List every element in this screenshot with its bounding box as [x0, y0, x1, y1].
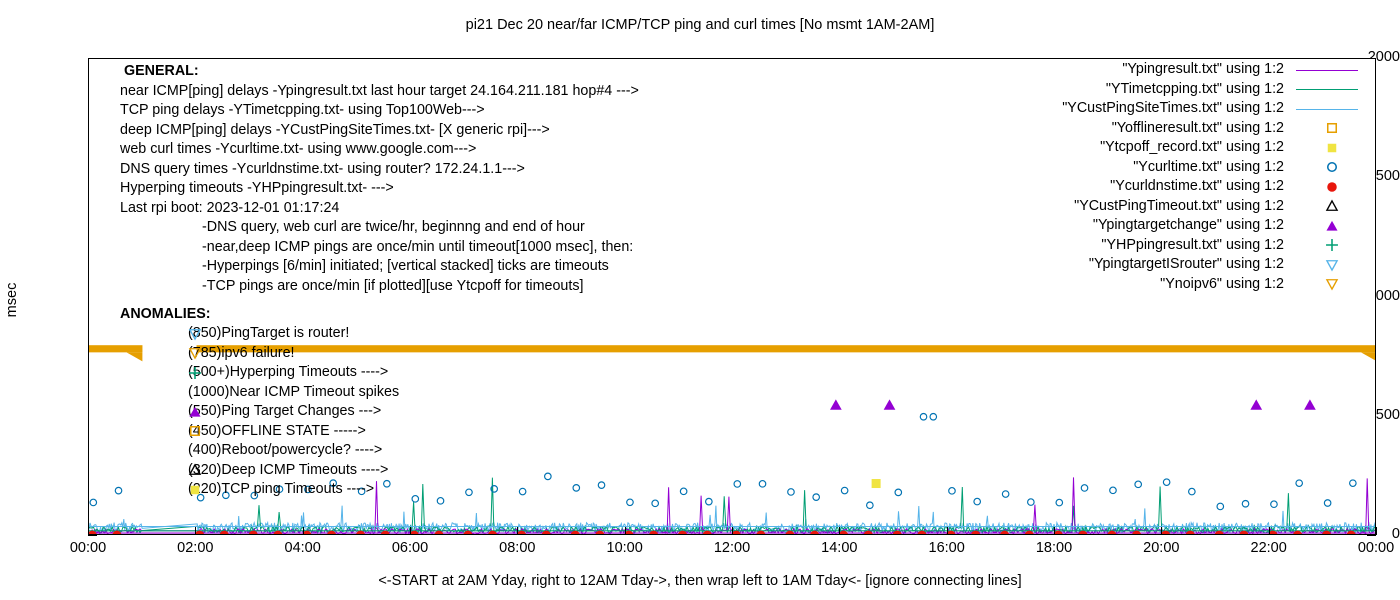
legend-key-filled-triangle-up-icon [1288, 216, 1376, 236]
legend-label: "YTimetcpping.txt" using 1:2 [1106, 81, 1284, 97]
legend-row[interactable]: "Ycurldnstime.txt" using 1:2 [1046, 177, 1376, 197]
general-detail-line: -DNS query, web curl are twice/hr, begin… [120, 218, 639, 238]
y-tick-mark [88, 535, 97, 536]
anomaly-row: (450)OFFLINE STATE -----> [120, 422, 399, 442]
legend-row[interactable]: "Ynoipv6" using 1:2 [1046, 275, 1376, 295]
legend-key-open-triangle-down-icon [1288, 275, 1376, 295]
general-annotation-block: GENERAL: near ICMP[ping] delays -Ypingre… [120, 62, 639, 296]
anomaly-label: (450)OFFLINE STATE -----> [188, 423, 366, 439]
y-tick-mark [1367, 535, 1376, 536]
legend-key-line-icon [1288, 80, 1376, 100]
anomalies-annotation-block: ANOMALIES: (850)PingTarget is router!(78… [120, 304, 399, 500]
anomaly-row: (550)Ping Target Changes ---> [120, 402, 399, 422]
legend-label: "Ypingtargetchange" using 1:2 [1093, 217, 1284, 233]
x-tick-label: 00:00 [43, 540, 133, 556]
general-header: GENERAL: [120, 62, 639, 82]
legend-row[interactable]: "YpingtargetISrouter" using 1:2 [1046, 255, 1376, 275]
legend-label: "YCustPingTimeout.txt" using 1:2 [1074, 198, 1284, 214]
anomaly-row: (400)Reboot/powercycle? ----> [120, 441, 399, 461]
legend-label: "YHPpingresult.txt" using 1:2 [1101, 237, 1284, 253]
x-tick-mark [88, 527, 89, 535]
x-tick-label: 10:00 [580, 540, 670, 556]
legend-key-open-square-icon [1288, 119, 1376, 139]
anomaly-open-triangle-down-icon [184, 345, 206, 361]
anomaly-no-marker [184, 443, 206, 459]
anomaly-label: (400)Reboot/powercycle? ----> [188, 442, 382, 458]
general-detail-line: -near,deep ICMP pings are once/min until… [120, 238, 639, 258]
legend-key-open-triangle-up-icon [1288, 197, 1376, 217]
x-tick-mark [303, 527, 304, 535]
anomaly-row: (785)ipv6 failure! [120, 344, 399, 364]
legend-key-line-icon [1288, 60, 1376, 80]
legend-label: "Ytcpoff_record.txt" using 1:2 [1100, 139, 1284, 155]
x-tick-label: 08:00 [472, 540, 562, 556]
chart-legend: "Ypingresult.txt" using 1:2"YTimetcpping… [1046, 60, 1376, 294]
anomaly-row: (1000)Near ICMP Timeout spikes [120, 383, 399, 403]
x-tick-mark [1269, 527, 1270, 535]
general-line: Hyperping timeouts -YHPpingresult.txt- -… [120, 179, 639, 199]
x-tick-label: 02:00 [150, 540, 240, 556]
x-tick-label: 06:00 [365, 540, 455, 556]
x-tick-mark [625, 527, 626, 535]
anomaly-no-marker [184, 384, 206, 400]
general-line: TCP ping delays -YTimetcpping.txt- using… [120, 101, 639, 121]
x-tick-label: 20:00 [1116, 540, 1206, 556]
general-detail-line: -TCP pings are once/min [if plotted][use… [120, 277, 639, 297]
anomaly-label: (500+)Hyperping Timeouts ----> [188, 364, 388, 380]
legend-key-filled-square-icon [1288, 138, 1376, 158]
x-tick-mark [410, 527, 411, 535]
x-tick-mark [1054, 527, 1055, 535]
x-axis-label: <-START at 2AM Yday, right to 12AM Tday-… [0, 573, 1400, 589]
legend-row[interactable]: "Ytcpoff_record.txt" using 1:2 [1046, 138, 1376, 158]
x-tick-label: 22:00 [1224, 540, 1314, 556]
legend-label: "Ypingresult.txt" using 1:2 [1122, 61, 1284, 77]
anomaly-label: (850)PingTarget is router! [188, 325, 349, 341]
legend-label: "Ycurldnstime.txt" using 1:2 [1110, 178, 1284, 194]
legend-label: "Ycurltime.txt" using 1:2 [1133, 159, 1284, 175]
anomaly-label: (220)TCP ping Timeouts ----> [188, 481, 374, 497]
anomaly-row: (320)Deep ICMP Timeouts ----> [120, 461, 399, 481]
legend-label: "Ynoipv6" using 1:2 [1160, 276, 1284, 292]
x-tick-label: 14:00 [794, 540, 884, 556]
legend-row[interactable]: "Ypingtargetchange" using 1:2 [1046, 216, 1376, 236]
anomaly-label: (550)Ping Target Changes ---> [188, 403, 381, 419]
chart-title: pi21 Dec 20 near/far ICMP/TCP ping and c… [0, 17, 1400, 33]
y-axis-label: msec [4, 270, 20, 330]
anomaly-row: (220)TCP ping Timeouts ----> [120, 480, 399, 500]
anomaly-row: (500+)Hyperping Timeouts ----> [120, 363, 399, 383]
anomaly-label: (1000)Near ICMP Timeout spikes [188, 384, 399, 400]
legend-label: "YCustPingSiteTimes.txt" using 1:2 [1062, 100, 1284, 116]
legend-row[interactable]: "YHPpingresult.txt" using 1:2 [1046, 236, 1376, 256]
anomaly-filled-triangle-up-icon [184, 404, 206, 420]
legend-row[interactable]: "YCustPingTimeout.txt" using 1:2 [1046, 197, 1376, 217]
x-tick-mark [1376, 527, 1377, 535]
x-tick-label: 04:00 [258, 540, 348, 556]
anomalies-header: ANOMALIES: [120, 304, 399, 324]
anomaly-plus-icon [184, 365, 206, 381]
legend-key-open-circle-icon [1288, 158, 1376, 178]
anomaly-open-square-icon [184, 423, 206, 439]
legend-row[interactable]: "Ypingresult.txt" using 1:2 [1046, 60, 1376, 80]
legend-row[interactable]: "Yofflineresult.txt" using 1:2 [1046, 119, 1376, 139]
anomaly-open-triangle-down-icon [184, 326, 206, 342]
legend-key-line-icon [1288, 99, 1376, 119]
legend-row[interactable]: "YCustPingSiteTimes.txt" using 1:2 [1046, 99, 1376, 119]
x-tick-label: 18:00 [1009, 540, 1099, 556]
legend-key-plus-icon [1288, 236, 1376, 256]
x-tick-mark [947, 527, 948, 535]
legend-row[interactable]: "Ycurltime.txt" using 1:2 [1046, 158, 1376, 178]
x-tick-mark [195, 527, 196, 535]
legend-label: "Yofflineresult.txt" using 1:2 [1112, 120, 1284, 136]
legend-key-filled-circle-icon [1288, 177, 1376, 197]
legend-label: "YpingtargetISrouter" using 1:2 [1089, 256, 1284, 272]
anomaly-open-triangle-up-icon [184, 462, 206, 478]
x-tick-mark [517, 527, 518, 535]
anomaly-row: (850)PingTarget is router! [120, 324, 399, 344]
x-tick-label: 12:00 [687, 540, 777, 556]
general-line: web curl times -Ycurltime.txt- using www… [120, 140, 639, 160]
general-line: DNS query times -Ycurldnstime.txt- using… [120, 160, 639, 180]
x-tick-label: 16:00 [902, 540, 992, 556]
general-line: Last rpi boot: 2023-12-01 01:17:24 [120, 199, 639, 219]
general-line: deep ICMP[ping] delays -YCustPingSiteTim… [120, 121, 639, 141]
x-tick-mark [1161, 527, 1162, 535]
anomaly-label: (320)Deep ICMP Timeouts ----> [188, 462, 388, 478]
x-tick-mark [839, 527, 840, 535]
general-detail-line: -Hyperpings [6/min] initiated; [vertical… [120, 257, 639, 277]
anomaly-filled-square-icon [184, 482, 206, 498]
legend-key-open-triangle-down-icon [1288, 255, 1376, 275]
x-tick-label: 00:00 [1331, 540, 1400, 556]
legend-row[interactable]: "YTimetcpping.txt" using 1:2 [1046, 80, 1376, 100]
general-line: near ICMP[ping] delays -Ypingresult.txt … [120, 82, 639, 102]
x-tick-mark [732, 527, 733, 535]
